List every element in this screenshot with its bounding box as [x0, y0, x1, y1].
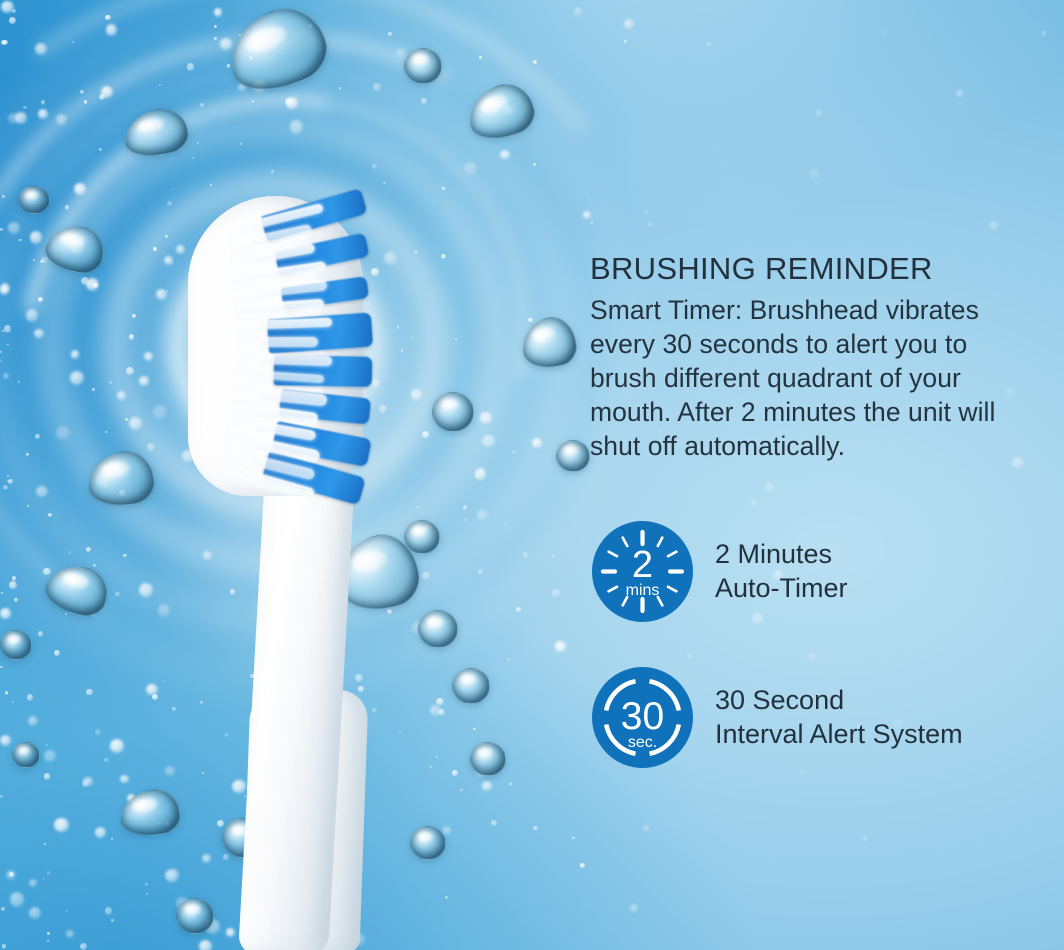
- toothbrush: [0, 0, 560, 950]
- toothbrush-bristles: [224, 198, 394, 498]
- product-feature-banner: BRUSHING REMINDER Smart Timer: Brushhead…: [0, 0, 1064, 950]
- feature-label: 2 Minutes Auto-Timer: [715, 537, 848, 606]
- description: Smart Timer: Brushhead vibrates every 30…: [590, 293, 1026, 464]
- page-title: BRUSHING REMINDER: [590, 252, 1026, 287]
- badge-value: 2: [632, 544, 653, 586]
- water-droplet: [556, 440, 590, 472]
- feature-label: 30 Second Interval Alert System: [715, 683, 963, 752]
- feature-item-2-minutes: 2 mins 2 Minutes Auto-Timer: [592, 512, 1042, 630]
- badge-unit: mins: [626, 582, 660, 599]
- bristle-tuft-white: [260, 337, 318, 347]
- badge-unit: sec.: [628, 734, 657, 751]
- dashed-ring-timer-icon: 30 sec.: [592, 667, 693, 768]
- text-panel: BRUSHING REMINDER Smart Timer: Brushhead…: [590, 252, 1026, 464]
- feature-item-30-second: 30 sec. 30 Second Interval Alert System: [592, 658, 1042, 776]
- clock-face-timer-icon: 2 mins: [592, 521, 693, 622]
- badge-value: 30: [621, 695, 664, 738]
- feature-list: 2 mins 2 Minutes Auto-Timer 30 sec.: [592, 512, 1042, 804]
